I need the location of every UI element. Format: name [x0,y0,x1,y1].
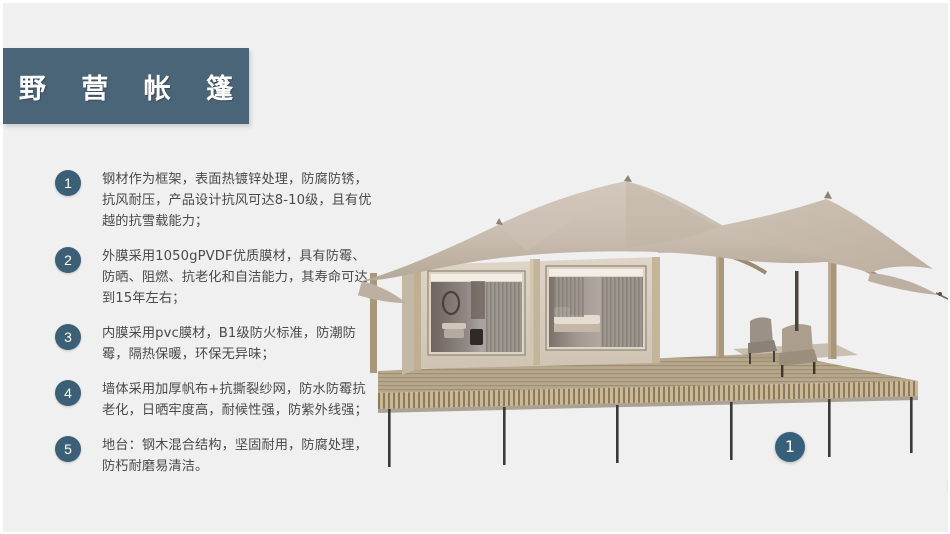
feature-item-2: 2 外膜采用1050gPVDF优质膜材，具有防霉、防晒、阻燃、抗老化和自洁能力，… [55,246,373,309]
roof-peak-tip [824,191,832,199]
feature-text-3: 内膜采用pvc膜材，B1级防火标准，防潮防霉，隔热保暖，环保无异味； [102,323,373,365]
feature-badge-2: 2 [55,247,81,273]
deck-leg [388,409,391,467]
feature-item-4: 4 墙体采用加厚帆布+抗撕裂纱网，防水防霉抗老化，日晒牢度高，耐候性强，防紫外线… [55,379,373,421]
curtain [601,277,643,347]
feature-item-1: 1 钢材作为框架，表面热镀锌处理，防腐防锈，抗风耐压，产品设计抗风可达8-10级… [55,169,373,232]
feature-list: 1 钢材作为框架，表面热镀锌处理，防腐防锈，抗风耐压，产品设计抗风可达8-10级… [55,169,373,491]
page-title: 野 营 帐 篷 [6,67,246,106]
tent-illustration: 野 奢 营 居 1 2 3 4 5 [358,153,950,473]
bin [470,329,483,345]
title-banner: 野 营 帐 篷 [3,48,249,124]
deck-leg [828,399,831,457]
roof-peak-tip [496,218,503,225]
roof-left-tail [358,281,406,303]
window-bathroom [428,271,525,355]
guy-line [936,293,948,299]
callout-marker-1[interactable]: 1 [775,432,805,462]
roof-peak-tip [624,175,632,182]
roof-right-tail [868,273,938,295]
corner-post [652,257,660,363]
deck-leg [616,405,619,463]
feature-badge-5: 5 [55,436,81,462]
feature-item-5: 5 地台：钢木混合结构，坚固耐用，防腐处理，防朽耐磨易清洁。 [55,435,373,477]
feature-badge-1: 1 [55,170,81,196]
feature-badge-3: 3 [55,324,81,350]
slide-canvas: 野 营 帐 篷 1 钢材作为框架，表面热镀锌处理，防腐防锈，抗风耐压，产品设计抗… [0,0,950,534]
vanity-basin [442,323,466,329]
feature-text-5: 地台：钢木混合结构，坚固耐用，防腐处理，防朽耐磨易清洁。 [102,435,373,477]
stove-pipe [795,271,799,331]
feature-text-2: 外膜采用1050gPVDF优质膜材，具有防霉、防晒、阻燃、抗老化和自洁能力，其寿… [102,246,373,309]
corner-post [414,265,421,370]
deck-leg [503,407,506,465]
deck-leg [910,397,913,453]
deck-leg [730,402,733,460]
feature-text-4: 墙体采用加厚帆布+抗撕裂纱网，防水防霉抗老化，日晒牢度高，耐候性强，防紫外线强； [102,379,373,421]
guy-anchor [938,292,942,296]
feature-badge-4: 4 [55,380,81,406]
feature-text-1: 钢材作为框架，表面热镀锌处理，防腐防锈，抗风耐压，产品设计抗风可达8-10级，且… [102,169,373,232]
tent-graphic [358,153,950,473]
window-bedroom [546,266,646,350]
feature-item-3: 3 内膜采用pvc膜材，B1级防火标准，防潮防霉，隔热保暖，环保无异味； [55,323,373,365]
curtain [554,277,584,317]
curtain [486,282,522,352]
